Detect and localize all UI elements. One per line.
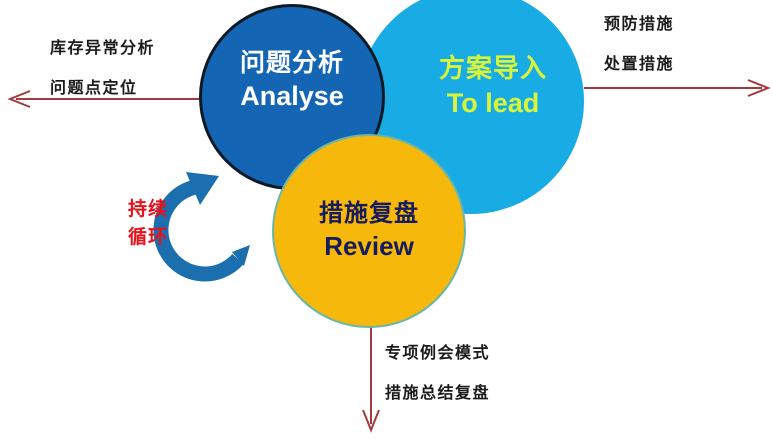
caption-cycle: 持续 循环: [128, 196, 168, 251]
circle-review-cn-label: 措施复盘: [319, 201, 419, 228]
arrow-right-icon: [584, 80, 768, 96]
caption-bottom-line-2: 措施总结复盘: [385, 379, 490, 403]
circle-tolead-en-label: To lead: [447, 88, 540, 118]
caption-right-line-1: 预防措施: [604, 10, 674, 34]
caption-left-line-1: 库存异常分析: [50, 34, 155, 58]
circle-tolead-cn-label: 方案导入: [439, 54, 547, 83]
caption-left-line-2: 问题点定位: [50, 74, 155, 98]
diagram-canvas: 问题分析 Analyse 方案导入 To lead 措施复盘 Review 库存…: [0, 0, 772, 441]
caption-cycle-line-2: 循环: [128, 224, 168, 252]
caption-bottom-line-1: 专项例会模式: [385, 339, 490, 363]
arrow-down-icon: [363, 322, 379, 430]
circle-review-en-label: Review: [324, 232, 414, 261]
caption-right-line-2: 处置措施: [604, 50, 674, 74]
caption-bottom: 专项例会模式 措施总结复盘: [385, 339, 490, 403]
caption-left: 库存异常分析 问题点定位: [50, 34, 155, 98]
circle-analyse-en-label: Analyse: [240, 81, 344, 111]
circular-arrow-icon: [161, 172, 250, 274]
caption-cycle-line-1: 持续: [128, 196, 168, 224]
circle-review[interactable]: 措施复盘 Review: [272, 134, 466, 328]
caption-right: 预防措施 处置措施: [604, 10, 674, 74]
circle-analyse-cn-label: 问题分析: [240, 49, 344, 77]
